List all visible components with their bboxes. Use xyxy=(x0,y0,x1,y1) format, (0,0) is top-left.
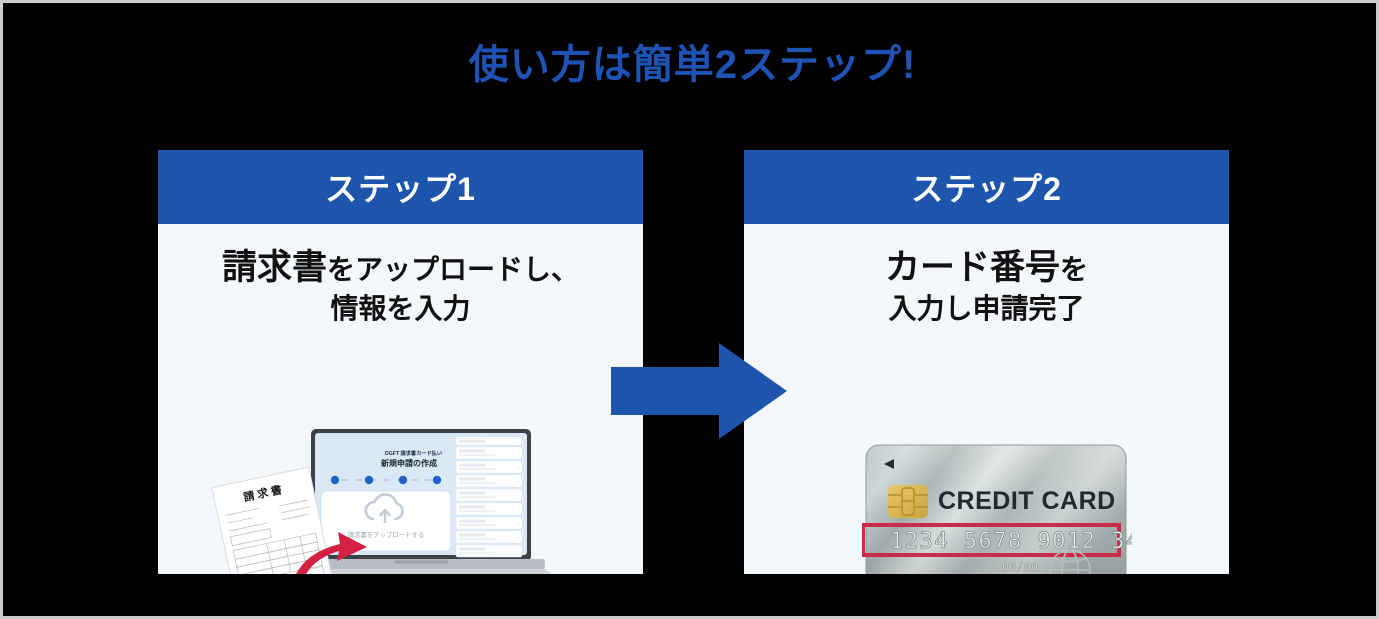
list-row: › xyxy=(456,475,522,487)
step-1-header: ステップ1 xyxy=(158,150,643,224)
stepper-dot xyxy=(433,476,441,484)
step-2-caption-line1: カード番号を xyxy=(744,246,1229,291)
step-2-caption-line2: 入力し申請完了 xyxy=(744,291,1229,327)
list-row: › xyxy=(456,517,522,529)
card-brand-text: CREDIT CARD xyxy=(938,487,1116,515)
stepper-dot xyxy=(399,476,407,484)
step-1-panel: ステップ1 請求書をアップロードし、 情報を入力 DGFT 請求書カード払い 新… xyxy=(158,150,643,574)
list-row xyxy=(456,437,522,445)
stepper-dot xyxy=(331,476,339,484)
step-2-header: ステップ2 xyxy=(744,150,1229,224)
infographic-canvas: 使い方は簡単2ステップ! ステップ1 請求書をアップロードし、 情報を入力 DG… xyxy=(0,0,1379,619)
curved-upload-arrow xyxy=(288,516,370,574)
laptop-list: › › › › › › › › xyxy=(456,437,522,557)
emv-chip-icon xyxy=(888,485,928,518)
list-row: › xyxy=(456,489,522,501)
step-2-body: カード番号を 入力し申請完了 xyxy=(744,224,1229,574)
stepper-dot xyxy=(365,476,373,484)
step-2-caption-strong: カード番号 xyxy=(885,248,1060,287)
step-2-caption: カード番号を 入力し申請完了 xyxy=(744,224,1229,327)
step-1-body: 請求書をアップロードし、 情報を入力 DGFT 請求書カード払い 新規申請の作成 xyxy=(158,224,643,574)
right-arrow-icon xyxy=(611,343,787,439)
step-1-caption-line2: 情報を入力 xyxy=(158,291,643,327)
list-row: › xyxy=(456,447,522,459)
card-expiry-text: 00/00 xyxy=(1002,560,1038,574)
step-1-caption-strong: 請求書 xyxy=(222,248,327,287)
card-number-text: 1234 5678 9012 3456 xyxy=(890,529,1132,554)
laptop-screen-title: 新規申請の作成 xyxy=(380,458,437,468)
step-1-caption-line1: 請求書をアップロードし、 xyxy=(158,246,643,291)
step-1-caption: 請求書をアップロードし、 情報を入力 xyxy=(158,224,643,327)
step-1-caption-rest: をアップロードし、 xyxy=(327,254,579,285)
list-row: › xyxy=(456,461,522,473)
step-2-caption-rest: を xyxy=(1060,254,1088,285)
step-2-panel: ステップ2 カード番号を 入力し申請完了 xyxy=(744,150,1229,574)
page-title: 使い方は簡単2ステップ! xyxy=(3,43,1379,87)
laptop-brand-text: DGFT 請求書カード払い xyxy=(385,449,442,457)
list-row: › xyxy=(456,503,522,515)
list-row: › xyxy=(456,545,522,557)
list-row: › xyxy=(456,531,522,543)
credit-card-illustration: CREDIT CARD 1234 5678 9012 3456 00/00 CA… xyxy=(862,441,1132,574)
